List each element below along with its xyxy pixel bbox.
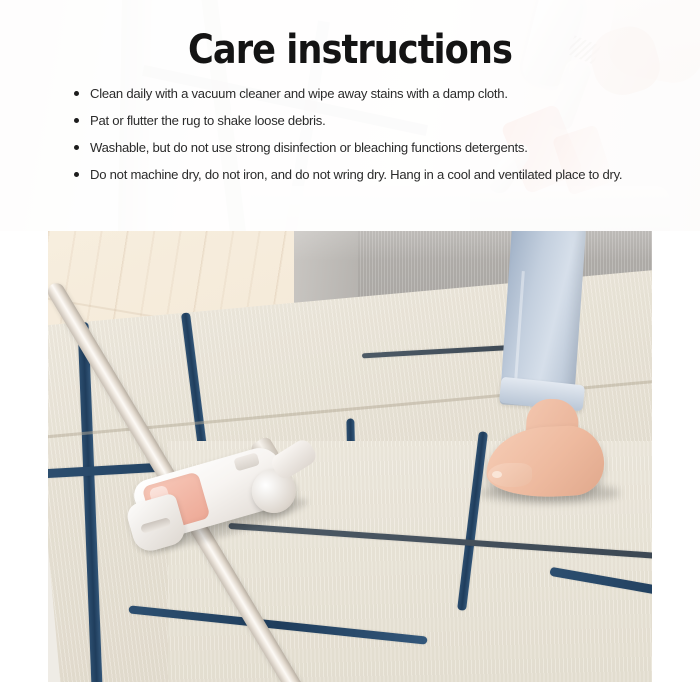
list-item-text: Do not machine dry, do not iron, and do … bbox=[90, 167, 622, 182]
bullet-dot-icon bbox=[74, 91, 79, 96]
list-item: Do not machine dry, do not iron, and do … bbox=[74, 167, 634, 183]
header-section: Care instructions Clean daily with a vac… bbox=[0, 0, 700, 231]
page-title: Care instructions bbox=[42, 27, 658, 73]
bullet-dot-icon bbox=[74, 145, 79, 150]
list-item-text: Washable, but do not use strong disinfec… bbox=[90, 140, 528, 155]
list-item: Clean daily with a vacuum cleaner and wi… bbox=[74, 86, 634, 102]
list-item-text: Pat or flutter the rug to shake loose de… bbox=[90, 113, 326, 128]
lifestyle-photo: Cleaning brush Vacuum cleaner bbox=[48, 231, 652, 682]
list-item: Washable, but do not use strong disinfec… bbox=[74, 140, 634, 156]
care-instructions-page: Care instructions Clean daily with a vac… bbox=[0, 0, 700, 700]
list-item: Pat or flutter the rug to shake loose de… bbox=[74, 113, 634, 129]
list-item-text: Clean daily with a vacuum cleaner and wi… bbox=[90, 86, 508, 101]
bullet-dot-icon bbox=[74, 172, 79, 177]
bullet-dot-icon bbox=[74, 118, 79, 123]
care-instruction-list: Clean daily with a vacuum cleaner and wi… bbox=[74, 86, 634, 183]
